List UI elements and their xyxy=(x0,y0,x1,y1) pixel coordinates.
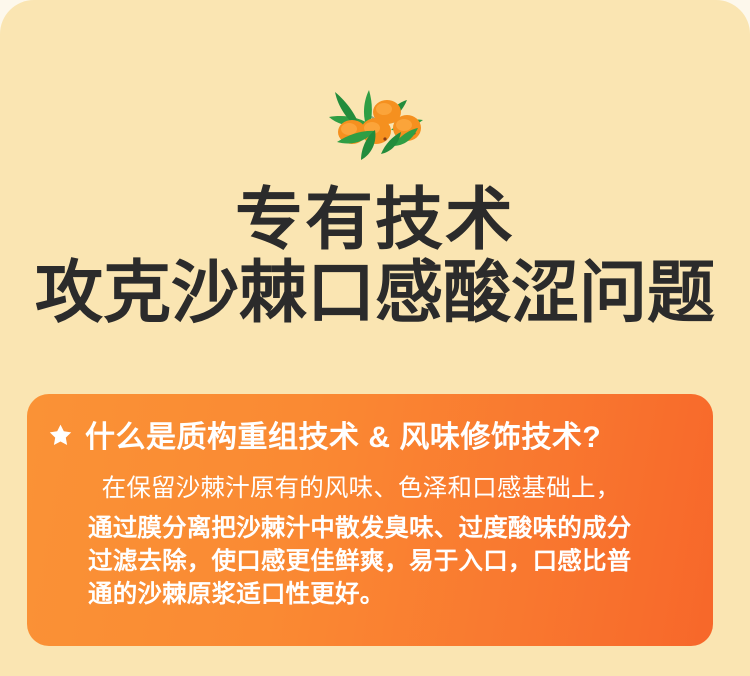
sea-buckthorn-branch-icon xyxy=(315,84,435,164)
info-card: 什么是质构重组技术 & 风味修饰技术? 在保留沙棘汁原有的风味、色泽和口感基础上… xyxy=(27,394,713,646)
info-card-body: 在保留沙棘汁原有的风味、色泽和口感基础上， 通过膜分离把沙棘汁中散发臭味、过度酸… xyxy=(27,456,713,611)
info-card-body-line-2: 通过膜分离把沙棘汁中散发臭味、过度酸味的成分 xyxy=(47,512,693,545)
info-card-title: 什么是质构重组技术 & 风味修饰技术? xyxy=(85,412,601,456)
sea-buckthorn-illustration xyxy=(0,84,750,164)
page-title: 专有技术 攻克沙棘口感酸涩问题 xyxy=(0,186,750,329)
page-title-line-2: 攻克沙棘口感酸涩问题 xyxy=(0,259,750,328)
info-card-body-line-3: 过滤去除，使口感更佳鲜爽，易于入口，口感比普 xyxy=(47,545,693,578)
star-icon xyxy=(48,423,73,447)
info-card-body-line-1: 在保留沙棘汁原有的风味、色泽和口感基础上， xyxy=(47,472,693,505)
info-card-body-line-4: 通的沙棘原浆适口性更好。 xyxy=(47,578,693,611)
page-title-line-1: 专有技术 xyxy=(0,186,750,255)
info-card-header: 什么是质构重组技术 & 风味修饰技术? xyxy=(27,394,713,456)
promo-page: 专有技术 攻克沙棘口感酸涩问题 什么是质构重组技术 & 风味修饰技术? 在保留沙… xyxy=(0,0,750,676)
star-icon-glyph xyxy=(48,423,73,447)
